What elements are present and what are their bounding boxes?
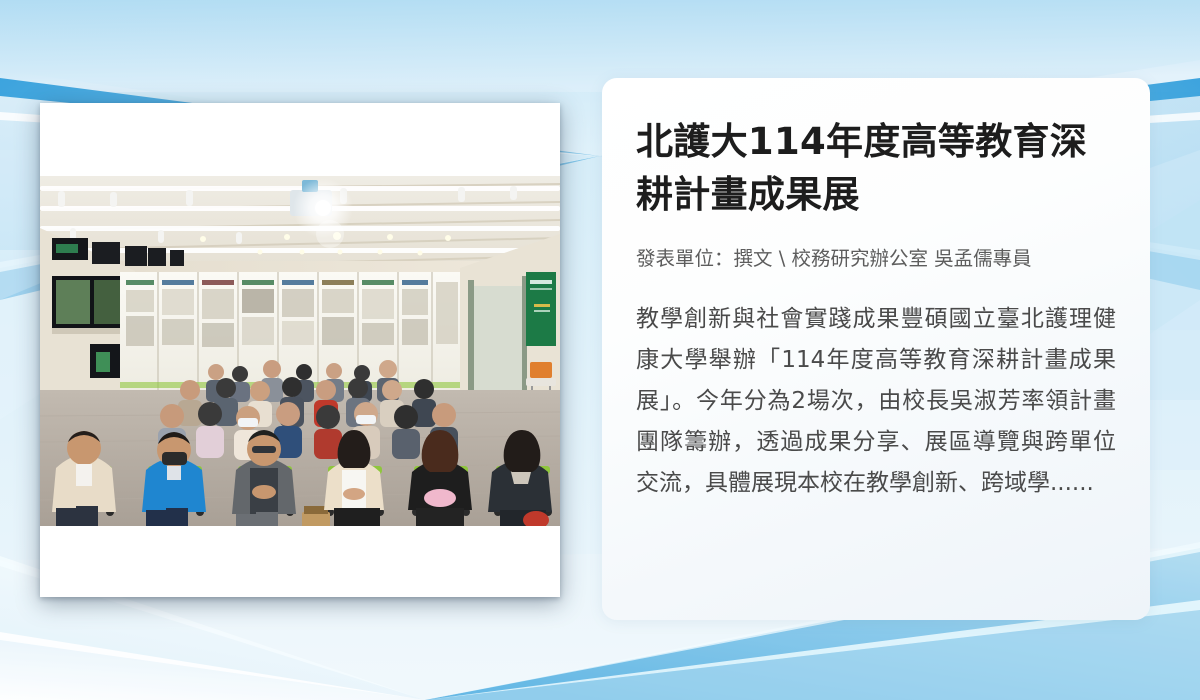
group-photo-exhibition-hall [40,176,560,526]
photo-card[interactable] [40,103,560,597]
article-photo [40,176,560,526]
article-excerpt: 教學創新與社會實踐成果豐碩國立臺北護理健康大學舉辦「114年度高等教育深耕計畫成… [636,299,1116,504]
article-card[interactable]: 北護大114年度高等教育深耕計畫成果展 發表單位：撰文 \ 校務研究辦公室 吳孟… [602,78,1150,620]
article-byline: 發表單位：撰文 \ 校務研究辦公室 吳孟儒專員 [636,244,1116,273]
article-headline: 北護大114年度高等教育深耕計畫成果展 [636,116,1116,221]
